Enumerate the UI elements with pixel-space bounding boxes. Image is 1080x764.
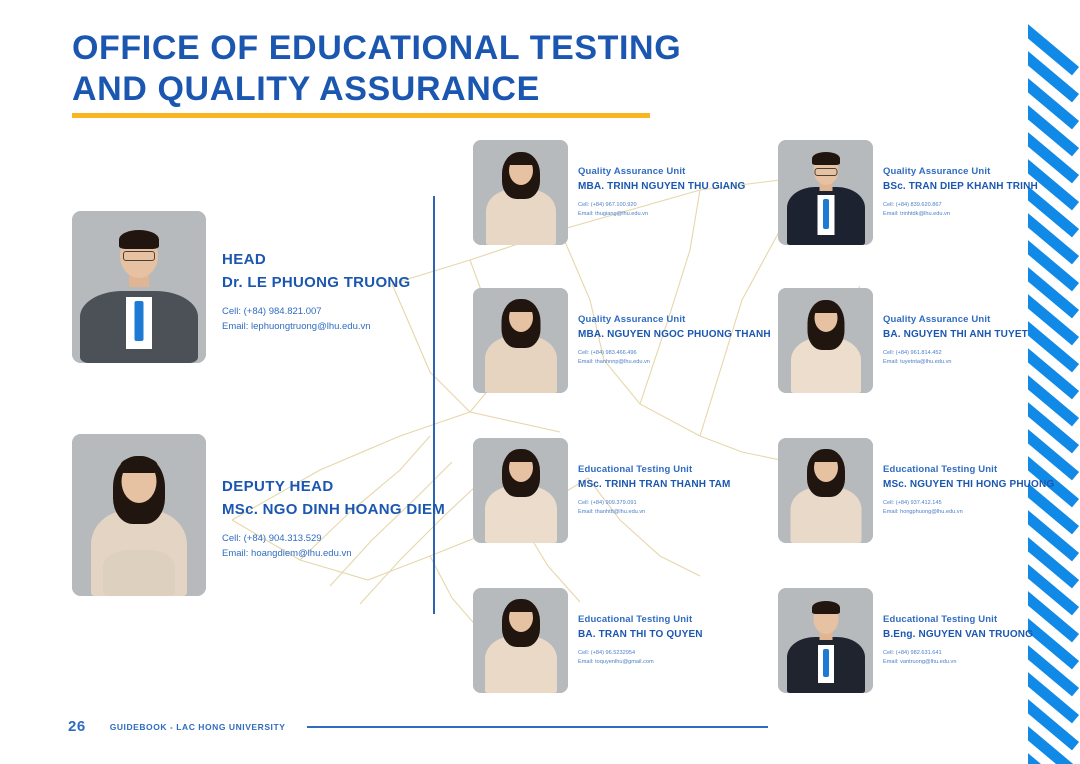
- staff-unit: Educational Testing Unit: [578, 613, 703, 627]
- page-title: OFFICE OF EDUCATIONAL TESTING AND QUALIT…: [72, 28, 692, 111]
- staff-cell: Cell: (+84) 909.379.091: [578, 499, 730, 508]
- staff-card: Educational Testing Unit B.Eng. NGUYEN V…: [778, 588, 1033, 693]
- leader-email-head: Email: lephuongtruong@lhu.edu.vn: [222, 320, 411, 335]
- portrait-photo-deputy-head: [72, 434, 206, 596]
- staff-name: MSc. NGUYEN THI HONG PHUONG: [883, 477, 1054, 492]
- portrait-photo-staff: [473, 438, 568, 543]
- leader-role-head: HEAD: [222, 249, 411, 272]
- footer-page-number: 26: [68, 718, 86, 735]
- staff-card: Educational Testing Unit MSc. TRINH TRAN…: [473, 438, 730, 543]
- staff-unit: Quality Assurance Unit: [578, 313, 771, 327]
- staff-email: Email: thugiang@lhu.edu.vn: [578, 210, 745, 219]
- leader-card-head: HEAD Dr. LE PHUONG TRUONG Cell: (+84) 98…: [72, 211, 411, 363]
- staff-email: Email: trinhtdk@lhu.edu.vn: [883, 210, 1038, 219]
- footer-rule: [307, 726, 768, 728]
- staff-name: B.Eng. NGUYEN VAN TRUONG: [883, 627, 1033, 642]
- staff-cell: Cell: (+84) 96.5232954: [578, 649, 703, 658]
- leader-card-deputy-head: DEPUTY HEAD MSc. NGO DINH HOANG DIEM Cel…: [72, 434, 445, 596]
- staff-email: Email: hongphuong@lhu.edu.vn: [883, 508, 1054, 517]
- portrait-photo-staff: [778, 438, 873, 543]
- staff-cell: Cell: (+84) 983.466.496: [578, 349, 771, 358]
- decorative-stripes: [1028, 0, 1080, 764]
- staff-name: BA. TRAN THI TO QUYEN: [578, 627, 703, 642]
- page-footer: 26 GUIDEBOOK - LAC HONG UNIVERSITY: [68, 718, 768, 735]
- portrait-photo-staff: [778, 288, 873, 393]
- portrait-photo-staff: [778, 588, 873, 693]
- staff-card: Quality Assurance Unit MBA. NGUYEN NGOC …: [473, 288, 771, 393]
- staff-name: MSc. TRINH TRAN THANH TAM: [578, 477, 730, 492]
- staff-unit: Educational Testing Unit: [578, 463, 730, 477]
- staff-cell: Cell: (+84) 982.631.641: [883, 649, 1033, 658]
- staff-name: BSc. TRAN DIEP KHANH TRINH: [883, 179, 1038, 194]
- staff-email: Email: toquyenlhu@gmail.com: [578, 658, 703, 667]
- portrait-photo-staff: [473, 288, 568, 393]
- portrait-photo-staff: [473, 588, 568, 693]
- staff-cell: Cell: (+84) 937.412.145: [883, 499, 1054, 508]
- staff-unit: Quality Assurance Unit: [883, 313, 1028, 327]
- staff-unit: Educational Testing Unit: [883, 463, 1054, 477]
- leader-role-deputy: DEPUTY HEAD: [222, 476, 445, 499]
- portrait-photo-staff: [473, 140, 568, 245]
- staff-cell: Cell: (+84) 961.814.452: [883, 349, 1028, 358]
- staff-card: Quality Assurance Unit MBA. TRINH NGUYEN…: [473, 140, 745, 245]
- staff-card: Quality Assurance Unit BA. NGUYEN THI AN…: [778, 288, 1028, 393]
- staff-email: Email: vantruong@lhu.edu.vn: [883, 658, 1033, 667]
- page-title-line-2: AND QUALITY ASSURANCE: [72, 69, 692, 110]
- title-underline-rule: [72, 113, 650, 118]
- staff-name: MBA. NGUYEN NGOC PHUONG THANH: [578, 327, 771, 342]
- staff-card: Educational Testing Unit BA. TRAN THI TO…: [473, 588, 703, 693]
- staff-unit: Quality Assurance Unit: [883, 165, 1038, 179]
- staff-email: Email: thanhttt@lhu.edu.vn: [578, 508, 730, 517]
- staff-email: Email: thanhnnp@lhu.edu.vn: [578, 358, 771, 367]
- staff-name: MBA. TRINH NGUYEN THU GIANG: [578, 179, 745, 194]
- staff-name: BA. NGUYEN THI ANH TUYET: [883, 327, 1028, 342]
- staff-card: Quality Assurance Unit BSc. TRAN DIEP KH…: [778, 140, 1038, 245]
- staff-email: Email: tuyetnta@lhu.edu.vn: [883, 358, 1028, 367]
- portrait-photo-head: [72, 211, 206, 363]
- leader-email-deputy: Email: hoangdiem@lhu.edu.vn: [222, 547, 445, 562]
- leader-cell-head: Cell: (+84) 984.821.007: [222, 305, 411, 320]
- portrait-photo-staff: [778, 140, 873, 245]
- staff-card: Educational Testing Unit MSc. NGUYEN THI…: [778, 438, 1054, 543]
- leader-name-head: Dr. LE PHUONG TRUONG: [222, 272, 411, 295]
- staff-cell: Cell: (+84) 967.100.920: [578, 201, 745, 210]
- footer-label: GUIDEBOOK - LAC HONG UNIVERSITY: [110, 722, 286, 732]
- staff-cell: Cell: (+84) 839.620.867: [883, 201, 1038, 210]
- staff-unit: Educational Testing Unit: [883, 613, 1033, 627]
- leader-cell-deputy: Cell: (+84) 904.313.529: [222, 532, 445, 547]
- staff-unit: Quality Assurance Unit: [578, 165, 745, 179]
- leader-name-deputy: MSc. NGO DINH HOANG DIEM: [222, 499, 445, 522]
- page-title-line-1: OFFICE OF EDUCATIONAL TESTING: [72, 28, 692, 69]
